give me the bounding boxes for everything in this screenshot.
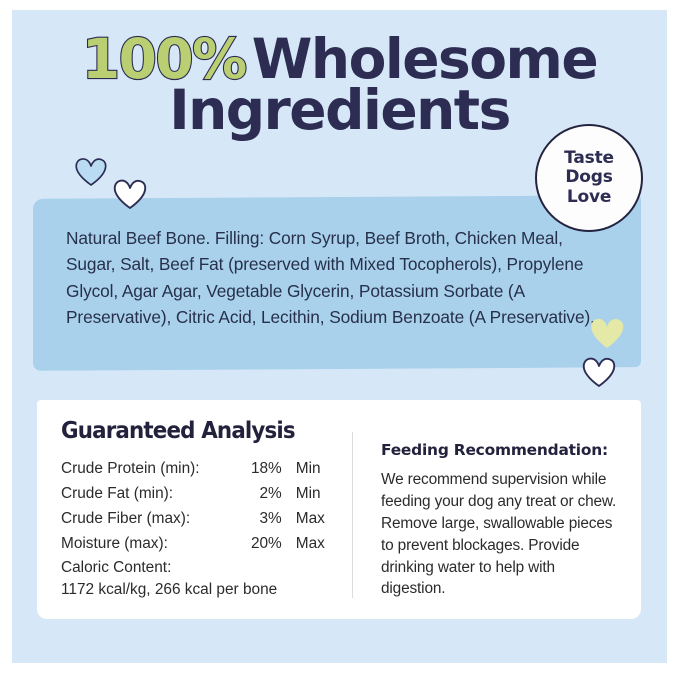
taste-dogs-love-badge: Taste Dogs Love <box>535 124 643 232</box>
nutrient-name: Moisture (max): <box>61 535 238 560</box>
table-row: Moisture (max): 20% Max <box>61 535 333 560</box>
feeding-recommendation-title: Feeding Recommendation: <box>381 441 608 459</box>
nutrient-value: 18% <box>238 460 295 485</box>
packaging-info-panel: 100%Wholesome Ingredients Taste Dogs Lov… <box>0 0 679 673</box>
feeding-recommendation-body: We recommend supervision while feeding y… <box>381 469 619 600</box>
headline-line-1: 100%Wholesome <box>0 34 679 85</box>
nutrient-value: 2% <box>238 485 295 510</box>
page-title: 100%Wholesome Ingredients <box>0 34 679 135</box>
nutrient-limit: Max <box>296 510 333 535</box>
caloric-content-value: 1172 kcal/kg, 266 kcal per bone <box>61 581 277 599</box>
caloric-content-label: Caloric Content: <box>61 559 171 577</box>
nutrient-name: Crude Fat (min): <box>61 485 238 510</box>
table-row: Crude Protein (min): 18% Min <box>61 460 333 485</box>
column-divider <box>352 432 353 598</box>
nutrient-value: 3% <box>238 510 295 535</box>
nutrient-limit: Max <box>296 535 333 560</box>
heart-white-top-left-icon <box>112 176 148 210</box>
nutrient-name: Crude Protein (min): <box>61 460 238 485</box>
table-row: Crude Fat (min): 2% Min <box>61 485 333 510</box>
nutrient-limit: Min <box>296 485 333 510</box>
ingredients-text: Natural Beef Bone. Filling: Corn Syrup, … <box>66 225 606 330</box>
table-row: Crude Fiber (max): 3% Max <box>61 510 333 535</box>
guaranteed-analysis-title: Guaranteed Analysis <box>61 418 295 444</box>
heart-white-right-icon <box>581 354 617 388</box>
guaranteed-analysis-table: Crude Protein (min): 18% Min Crude Fat (… <box>61 460 333 560</box>
badge-line-3: Love <box>567 188 611 207</box>
badge-line-2: Dogs <box>565 168 612 187</box>
heart-green-right-icon <box>588 314 626 350</box>
nutrient-value: 20% <box>238 535 295 560</box>
badge-line-1: Taste <box>564 149 614 168</box>
heart-blue-top-left-icon <box>74 155 108 187</box>
nutrient-limit: Min <box>296 460 333 485</box>
nutrient-name: Crude Fiber (max): <box>61 510 238 535</box>
